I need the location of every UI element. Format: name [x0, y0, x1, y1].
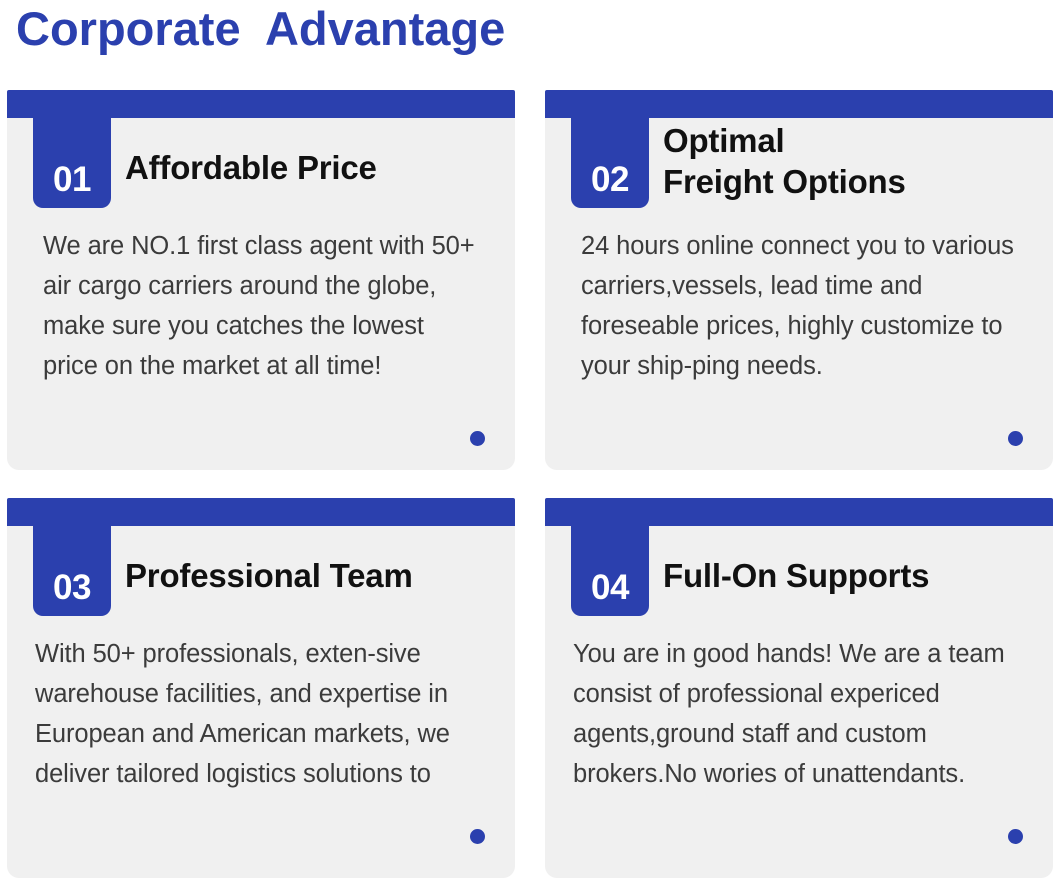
advantage-card-01: 01 Affordable Price We are NO.1 first cl…	[7, 90, 515, 470]
card-title: Professional Team	[125, 532, 501, 618]
card-description: You are in good hands! We are a team con…	[573, 634, 1023, 794]
card-number-label: 03	[53, 568, 91, 608]
card-number-badge: 04	[571, 498, 649, 616]
decorative-dot-icon	[1008, 829, 1023, 844]
advantage-card-02: 02 Optimal Freight Options 24 hours onli…	[545, 90, 1053, 470]
card-number-label: 04	[591, 568, 629, 608]
decorative-dot-icon	[470, 431, 485, 446]
advantage-card-04: 04 Full-On Supports You are in good hand…	[545, 498, 1053, 878]
corporate-advantage-page: Corporate Advantage 01 Affordable Price …	[0, 0, 1060, 884]
card-number-label: 01	[53, 160, 91, 200]
card-title: Optimal Freight Options	[663, 118, 1039, 204]
card-number-label: 02	[591, 160, 629, 200]
card-number-badge: 02	[571, 90, 649, 208]
card-number-badge: 01	[33, 90, 111, 208]
card-description: 24 hours online connect you to various c…	[581, 226, 1023, 386]
page-title: Corporate Advantage	[16, 0, 505, 62]
card-number-badge: 03	[33, 498, 111, 616]
card-title: Full-On Supports	[663, 532, 1039, 618]
decorative-dot-icon	[1008, 431, 1023, 446]
advantage-card-03: 03 Professional Team With 50+ profession…	[7, 498, 515, 878]
decorative-dot-icon	[470, 829, 485, 844]
card-description: We are NO.1 first class agent with 50+ a…	[43, 226, 485, 386]
card-description: With 50+ professionals, exten-sive wareh…	[35, 634, 485, 794]
advantage-card-grid: 01 Affordable Price We are NO.1 first cl…	[0, 90, 1060, 878]
card-title: Affordable Price	[125, 124, 501, 210]
